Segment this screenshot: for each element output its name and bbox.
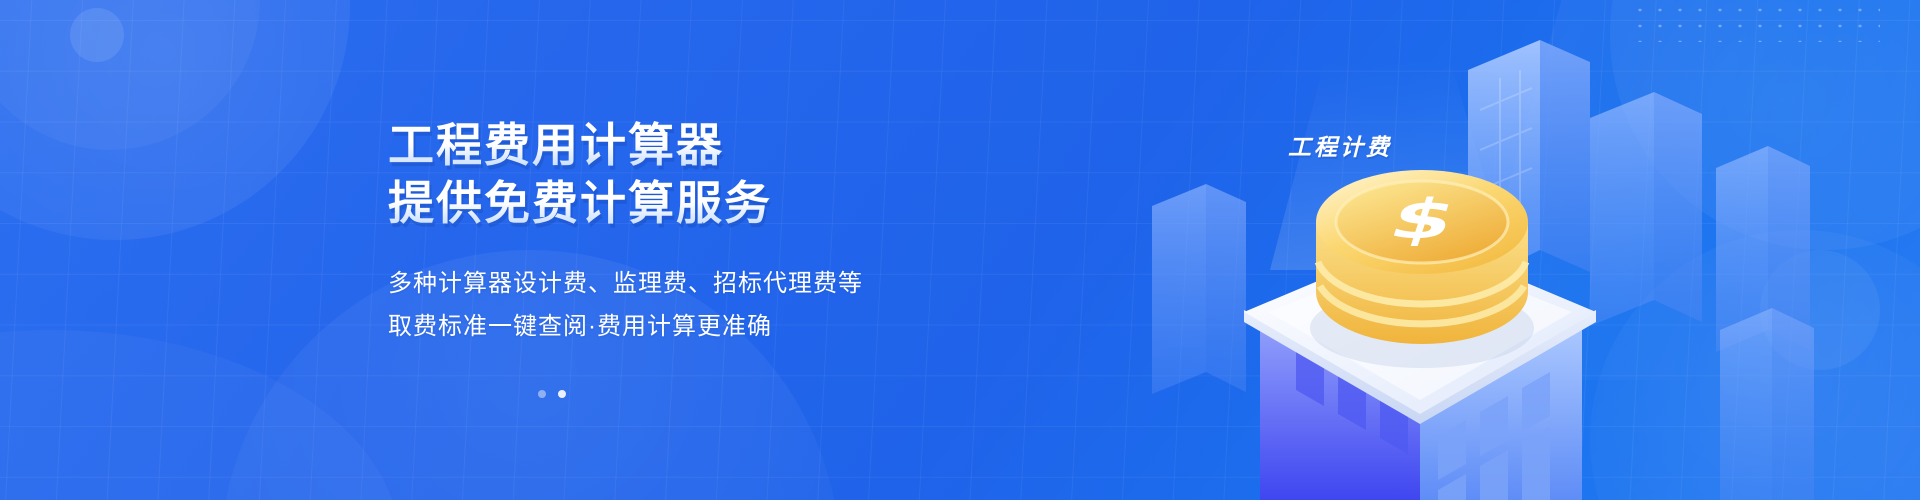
illustration-graphic: $	[1120, 0, 1920, 500]
illustration: $ 工程计费	[1120, 0, 1920, 500]
banner-text-block: 工程费用计算器 提供免费计算服务 多种计算器设计费、监理费、招标代理费等 取费标…	[388, 116, 863, 348]
carousel-dot-2[interactable]	[558, 390, 566, 398]
promo-banner: 工程费用计算器 提供免费计算服务 多种计算器设计费、监理费、招标代理费等 取费标…	[0, 0, 1920, 500]
decorative-circle-small-left	[70, 8, 124, 62]
illustration-label: 工程计费	[1288, 128, 1392, 162]
decorative-circle-top-left	[0, 0, 350, 240]
carousel-dots[interactable]	[538, 390, 566, 398]
carousel-dot-1[interactable]	[538, 390, 546, 398]
subtitle-line-2: 取费标准一键查阅·费用计算更准确	[388, 305, 863, 348]
decorative-circle-top-left-inner	[0, 0, 260, 150]
headline-line-2: 提供免费计算服务	[388, 174, 863, 232]
coin-stack-icon: $	[1316, 170, 1528, 344]
decorative-arc-bottom-left	[0, 330, 400, 500]
subtitle-line-1: 多种计算器设计费、监理费、招标代理费等	[388, 262, 863, 305]
headline-line-1: 工程费用计算器	[388, 116, 863, 174]
